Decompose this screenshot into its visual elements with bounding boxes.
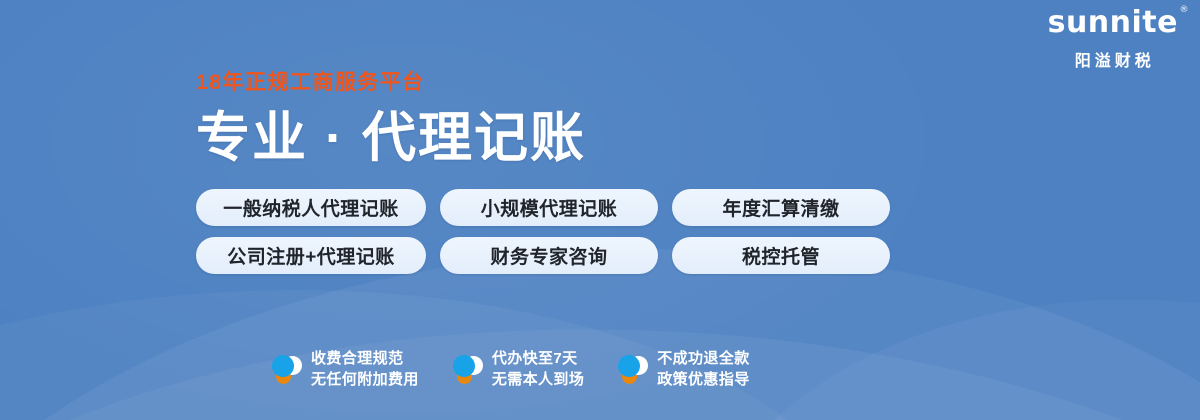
feature-item: 代办快至7天 无需本人到场 bbox=[453, 348, 584, 391]
hero-headline: 专业 · 代理记账 bbox=[196, 109, 890, 167]
feature-line-1: 代办快至7天 bbox=[492, 348, 584, 369]
feature-strip: 收费合理规范 无任何附加费用 代办快至7天 无需本人到场 不成功退全款 bbox=[272, 348, 750, 391]
split-circle-icon bbox=[272, 352, 302, 386]
split-circle-icon bbox=[618, 352, 648, 386]
feature-text: 不成功退全款 政策优惠指导 bbox=[657, 348, 749, 391]
service-pill[interactable]: 年度汇算清缴 bbox=[672, 189, 890, 226]
service-pill[interactable]: 一般纳税人代理记账 bbox=[196, 189, 426, 226]
split-circle-icon bbox=[453, 352, 483, 386]
service-pill[interactable]: 公司注册+代理记账 bbox=[196, 237, 426, 274]
promo-banner: sunnite® 阳溢财税 18年正规工商服务平台 专业 · 代理记账 一般纳税… bbox=[0, 0, 1200, 420]
registered-trademark-icon: ® bbox=[1180, 6, 1190, 15]
split-circle-icon-cyan bbox=[453, 355, 475, 377]
feature-line-2: 无任何附加费用 bbox=[311, 369, 419, 390]
background-wave-4 bbox=[694, 281, 1200, 420]
feature-line-1: 收费合理规范 bbox=[311, 348, 419, 369]
background-wave-2 bbox=[0, 254, 889, 420]
service-pill-grid: 一般纳税人代理记账 小规模代理记账 年度汇算清缴 公司注册+代理记账 财务专家咨… bbox=[196, 189, 890, 274]
feature-text: 收费合理规范 无任何附加费用 bbox=[311, 348, 419, 391]
service-pill[interactable]: 小规模代理记账 bbox=[440, 189, 658, 226]
feature-line-2: 政策优惠指导 bbox=[657, 369, 749, 390]
service-pill[interactable]: 财务专家咨询 bbox=[440, 237, 658, 274]
hero-tagline: 18年正规工商服务平台 bbox=[196, 72, 890, 93]
feature-item: 不成功退全款 政策优惠指导 bbox=[618, 348, 749, 391]
feature-line-1: 不成功退全款 bbox=[657, 348, 749, 369]
hero-content: 18年正规工商服务平台 专业 · 代理记账 一般纳税人代理记账 小规模代理记账 … bbox=[196, 72, 890, 274]
brand-chinese-name: 阳溢财税 bbox=[1048, 47, 1178, 71]
brand-wordmark: sunnite® bbox=[1048, 8, 1178, 38]
brand-logo[interactable]: sunnite® 阳溢财税 bbox=[1048, 8, 1178, 71]
feature-line-2: 无需本人到场 bbox=[492, 369, 584, 390]
feature-item: 收费合理规范 无任何附加费用 bbox=[272, 348, 419, 391]
service-pill[interactable]: 税控托管 bbox=[672, 237, 890, 274]
feature-text: 代办快至7天 无需本人到场 bbox=[492, 348, 584, 391]
brand-wordmark-text: sunnite bbox=[1048, 5, 1178, 40]
